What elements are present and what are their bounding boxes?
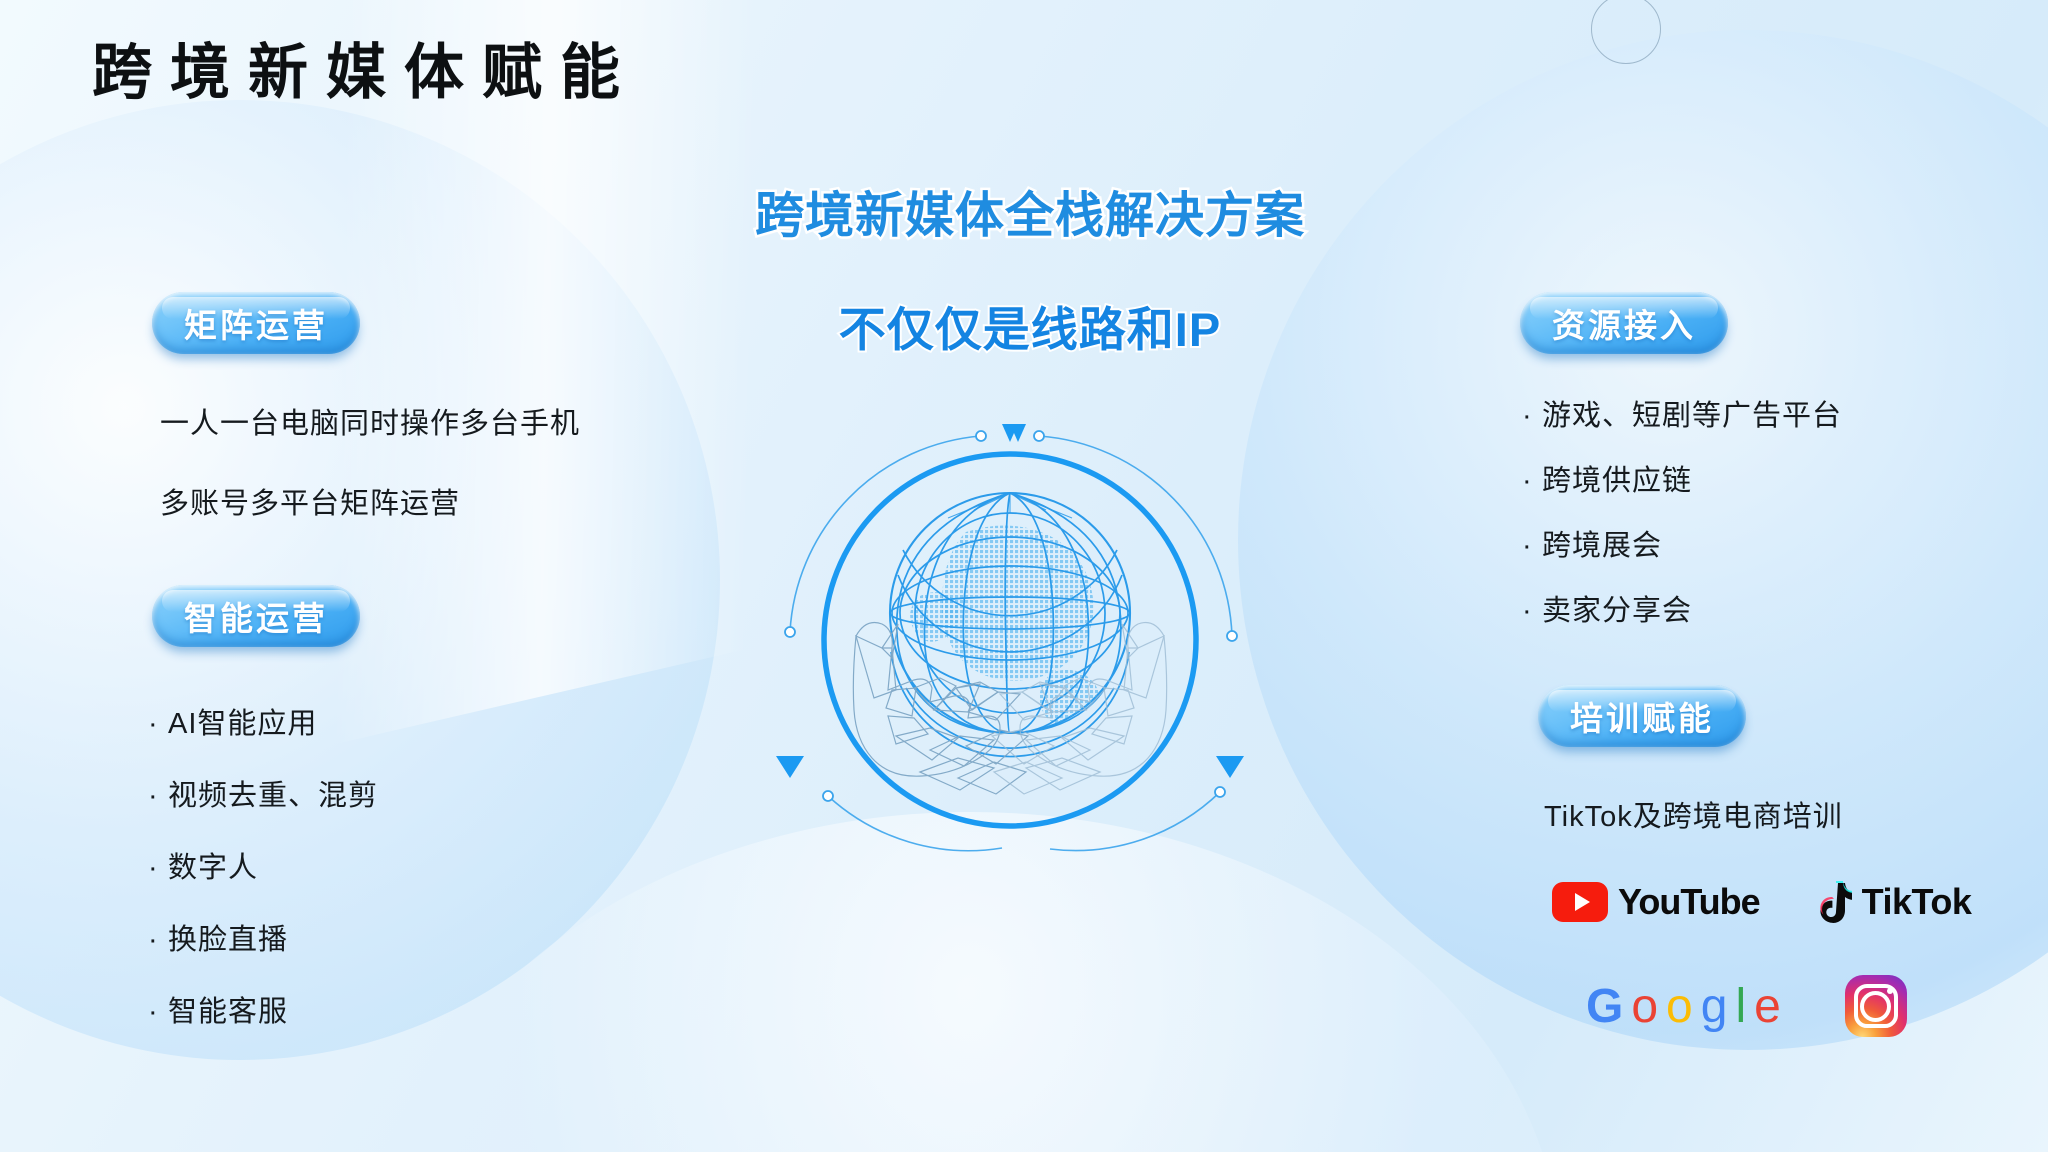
youtube-label: YouTube — [1618, 881, 1760, 923]
bullet-dot: · — [148, 708, 168, 741]
bullet-dot: · — [148, 924, 168, 957]
item-text: 视频去重、混剪 — [168, 780, 378, 812]
left-item-matrix-2: 多账号多平台矩阵运营 — [160, 480, 460, 522]
youtube-logo[interactable]: YouTube — [1552, 881, 1760, 923]
right-item-resource-2: ·跨境供应链 — [1522, 457, 1692, 499]
bullet-dot: · — [1522, 400, 1542, 433]
pill-resource-access[interactable]: 资源接入 — [1520, 292, 1728, 354]
right-item-resource-3: ·跨境展会 — [1522, 522, 1662, 564]
subheadline: 不仅仅是线路和IP — [640, 291, 1420, 360]
logo-row-1: YouTube TikTok — [1552, 866, 1972, 938]
item-text: 卖家分享会 — [1542, 595, 1692, 627]
item-text: 数字人 — [168, 852, 258, 884]
globe-svg — [770, 400, 1250, 880]
item-text: 跨境展会 — [1542, 530, 1662, 562]
tiktok-note-icon — [1812, 881, 1852, 923]
item-text: 游戏、短剧等广告平台 — [1542, 400, 1842, 432]
item-text: 跨境供应链 — [1542, 465, 1692, 497]
globe-in-hands-illustration — [770, 400, 1250, 880]
item-text: 智能客服 — [168, 996, 288, 1028]
page-title: 跨境新媒体赋能 — [92, 40, 638, 106]
google-letter-o1: o — [1631, 979, 1656, 1034]
pill-matrix-operation[interactable]: 矩阵运营 — [152, 292, 360, 354]
right-item-resource-1: ·游戏、短剧等广告平台 — [1522, 392, 1842, 434]
tiktok-logo[interactable]: TikTok — [1812, 881, 1972, 923]
pill-label: 资源接入 — [1552, 299, 1696, 347]
right-item-training-1: TikTok及跨境电商培训 — [1544, 793, 1843, 835]
bullet-dot: · — [148, 852, 168, 885]
pill-smart-operation[interactable]: 智能运营 — [152, 585, 360, 647]
left-item-smart-2: ·视频去重、混剪 — [148, 772, 378, 814]
center-heading-group: 跨境新媒体全栈解决方案 不仅仅是线路和IP — [640, 176, 1420, 360]
youtube-play-icon — [1552, 882, 1608, 922]
google-letter-o2: o — [1666, 979, 1691, 1034]
left-item-matrix-1: 一人一台电脑同时操作多台手机 — [160, 400, 580, 442]
bullet-dot: · — [148, 780, 168, 813]
bullet-dot: · — [1522, 595, 1542, 628]
google-letter-e: e — [1754, 979, 1779, 1034]
bullet-dot: · — [1522, 465, 1542, 498]
left-item-smart-3: ·数字人 — [148, 844, 258, 886]
left-item-smart-1: ·AI智能应用 — [148, 700, 317, 742]
google-letter-g1: G — [1586, 979, 1621, 1034]
pill-label: 培训赋能 — [1570, 692, 1714, 740]
instagram-dot-icon — [1887, 988, 1893, 994]
slide-canvas: 跨境新媒体赋能 跨境新媒体全栈解决方案 不仅仅是线路和IP — [0, 0, 2048, 1152]
pill-label: 智能运营 — [184, 592, 328, 640]
item-text: 换脸直播 — [168, 924, 288, 956]
platform-logo-group: YouTube TikTok Google — [1552, 866, 1972, 1042]
left-item-smart-4: ·换脸直播 — [148, 916, 288, 958]
bullet-dot: · — [148, 996, 168, 1029]
google-logo[interactable]: Google — [1586, 979, 1779, 1034]
logo-row-2: Google — [1552, 970, 1972, 1042]
bullet-dot: · — [1522, 530, 1542, 563]
left-item-smart-5: ·智能客服 — [148, 988, 288, 1030]
pill-label: 矩阵运营 — [184, 299, 328, 347]
google-letter-l: l — [1735, 979, 1744, 1034]
right-item-resource-4: ·卖家分享会 — [1522, 587, 1692, 629]
headline: 跨境新媒体全栈解决方案 — [640, 176, 1420, 247]
background-circle-left — [0, 100, 720, 1060]
tiktok-label: TikTok — [1862, 881, 1972, 923]
pill-training-empowerment[interactable]: 培训赋能 — [1538, 685, 1746, 747]
instagram-logo[interactable] — [1845, 975, 1907, 1037]
item-text: AI智能应用 — [168, 708, 317, 740]
google-letter-g2: g — [1701, 979, 1726, 1034]
decorative-ring-icon — [1591, 0, 1661, 64]
